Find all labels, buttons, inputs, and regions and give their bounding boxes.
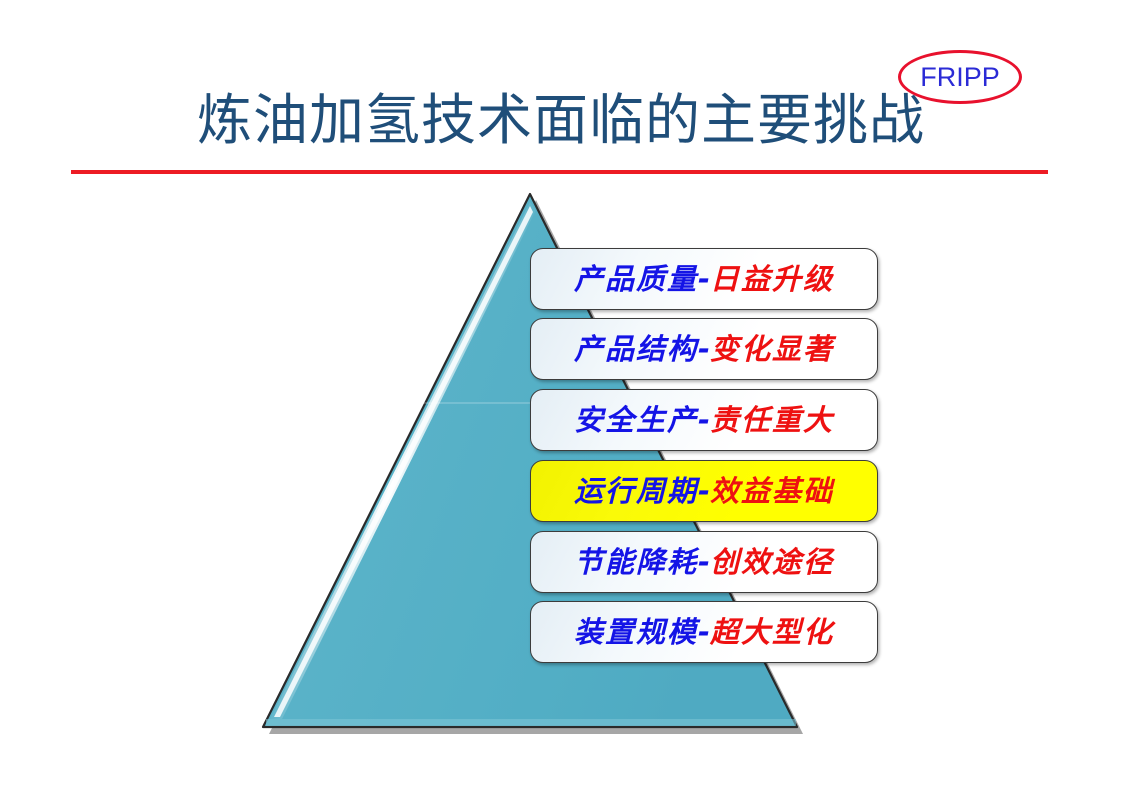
pyramid-row-5[interactable]: 节能降耗-创效途径	[530, 531, 878, 593]
pyramid-row-3-text: 安全生产-责任重大	[574, 406, 834, 435]
pyramid-row-5-suffix: 创效途径	[710, 545, 834, 579]
pyramid-row-3-dash: -	[698, 403, 710, 437]
pyramid-row-1-text: 产品质量-日益升级	[574, 265, 834, 294]
pyramid-row-6-prefix: 装置规模	[574, 615, 698, 649]
pyramid-row-1-suffix: 日益升级	[710, 262, 834, 296]
pyramid-row-2-text: 产品结构-变化显著	[574, 335, 834, 364]
pyramid-row-6-text: 装置规模-超大型化	[574, 618, 834, 647]
pyramid-row-3-prefix: 安全生产	[574, 403, 698, 437]
pyramid-row-2-suffix: 变化显著	[710, 332, 834, 366]
pyramid-base-shading	[266, 719, 796, 726]
pyramid-row-4[interactable]: 运行周期-效益基础	[530, 460, 878, 522]
pyramid-row-5-dash: -	[698, 545, 710, 579]
pyramid-row-3[interactable]: 安全生产-责任重大	[530, 389, 878, 451]
pyramid-row-1[interactable]: 产品质量-日益升级	[530, 248, 878, 310]
pyramid-row-6-dash: -	[698, 615, 710, 649]
pyramid-row-4-text: 运行周期-效益基础	[574, 477, 834, 506]
title-underline-rule	[71, 170, 1048, 174]
pyramid-row-2-dash: -	[698, 332, 710, 366]
pyramid-row-2[interactable]: 产品结构-变化显著	[530, 318, 878, 380]
pyramid-row-3-suffix: 责任重大	[710, 403, 834, 437]
pyramid-row-1-dash: -	[698, 262, 710, 296]
pyramid-row-4-suffix: 效益基础	[710, 474, 834, 508]
pyramid-row-2-prefix: 产品结构	[574, 332, 698, 366]
pyramid-row-4-prefix: 运行周期	[574, 474, 698, 508]
pyramid-row-5-text: 节能降耗-创效途径	[574, 548, 834, 577]
pyramid-row-5-prefix: 节能降耗	[574, 545, 698, 579]
page-title: 炼油加氢技术面临的主要挑战	[0, 86, 1122, 154]
pyramid-row-6[interactable]: 装置规模-超大型化	[530, 601, 878, 663]
pyramid-row-1-prefix: 产品质量	[574, 262, 698, 296]
slide-canvas: FRIPP 炼油加氢技术面临的主要挑战	[0, 0, 1122, 793]
pyramid-row-6-suffix: 超大型化	[710, 615, 834, 649]
pyramid-row-4-dash: -	[698, 474, 710, 508]
